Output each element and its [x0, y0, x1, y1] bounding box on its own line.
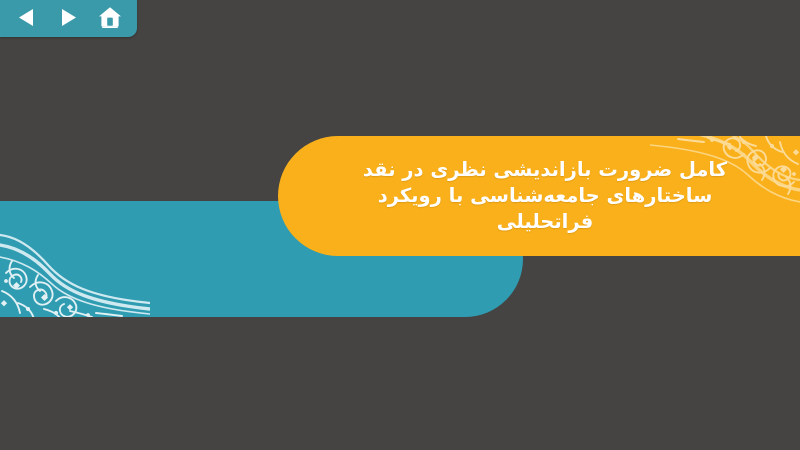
triangle-left-icon: [18, 8, 35, 27]
navigation-bar: [0, 0, 137, 37]
triangle-right-icon: [60, 8, 77, 27]
title-line-3: فراتحلیلی: [318, 209, 772, 235]
title-line-1: کامل ضرورت بازاندیشی نظری در نقد: [318, 157, 772, 183]
slide-canvas: کامل ضرورت بازاندیشی نظری در نقد ساختاره…: [0, 0, 800, 450]
previous-slide-button[interactable]: [12, 4, 42, 32]
home-icon: [98, 6, 122, 29]
home-button[interactable]: [95, 4, 125, 32]
slide-title: کامل ضرورت بازاندیشی نظری در نقد ساختاره…: [278, 157, 800, 235]
title-line-2: ساختارهای جامعه‌شناسی با رویکرد: [318, 183, 772, 209]
title-banner: کامل ضرورت بازاندیشی نظری در نقد ساختاره…: [278, 136, 800, 256]
arabesque-corner-ornament: [0, 201, 150, 317]
next-slide-button[interactable]: [53, 4, 83, 32]
